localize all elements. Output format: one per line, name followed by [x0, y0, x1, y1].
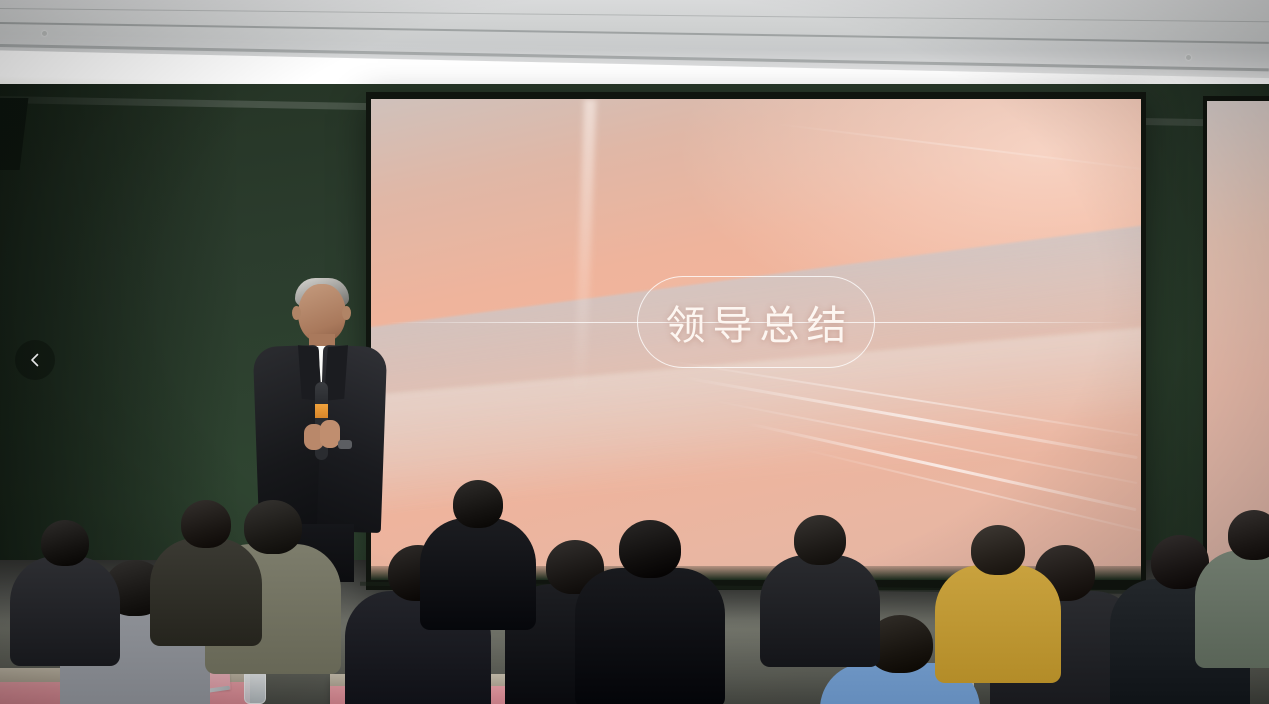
audience-member-head [619, 520, 681, 578]
audience-member-torso [1195, 550, 1269, 668]
photo-viewer: 领导总结 伟 [0, 0, 1269, 704]
audience-member [760, 515, 880, 677]
audience-member [150, 500, 262, 656]
audience-member-head [181, 500, 231, 548]
audience-member-torso [760, 555, 880, 667]
audience [0, 0, 1269, 704]
chevron-left-icon [27, 352, 43, 368]
audience-member-head [794, 515, 846, 565]
audience-member-head [453, 480, 503, 528]
audience-member-torso [150, 538, 262, 646]
audience-member [1195, 510, 1269, 678]
carousel-prev-button[interactable] [15, 340, 55, 380]
audience-member [420, 480, 536, 640]
audience-member-torso [575, 568, 725, 704]
audience-member [10, 520, 120, 676]
audience-member-head [971, 525, 1025, 575]
audience-member [575, 520, 725, 704]
audience-member-head [41, 520, 89, 566]
audience-member-head [1228, 510, 1269, 560]
audience-member-torso [935, 565, 1061, 683]
audience-member [935, 525, 1061, 693]
audience-member-torso [10, 556, 120, 666]
audience-member-torso [420, 518, 536, 630]
